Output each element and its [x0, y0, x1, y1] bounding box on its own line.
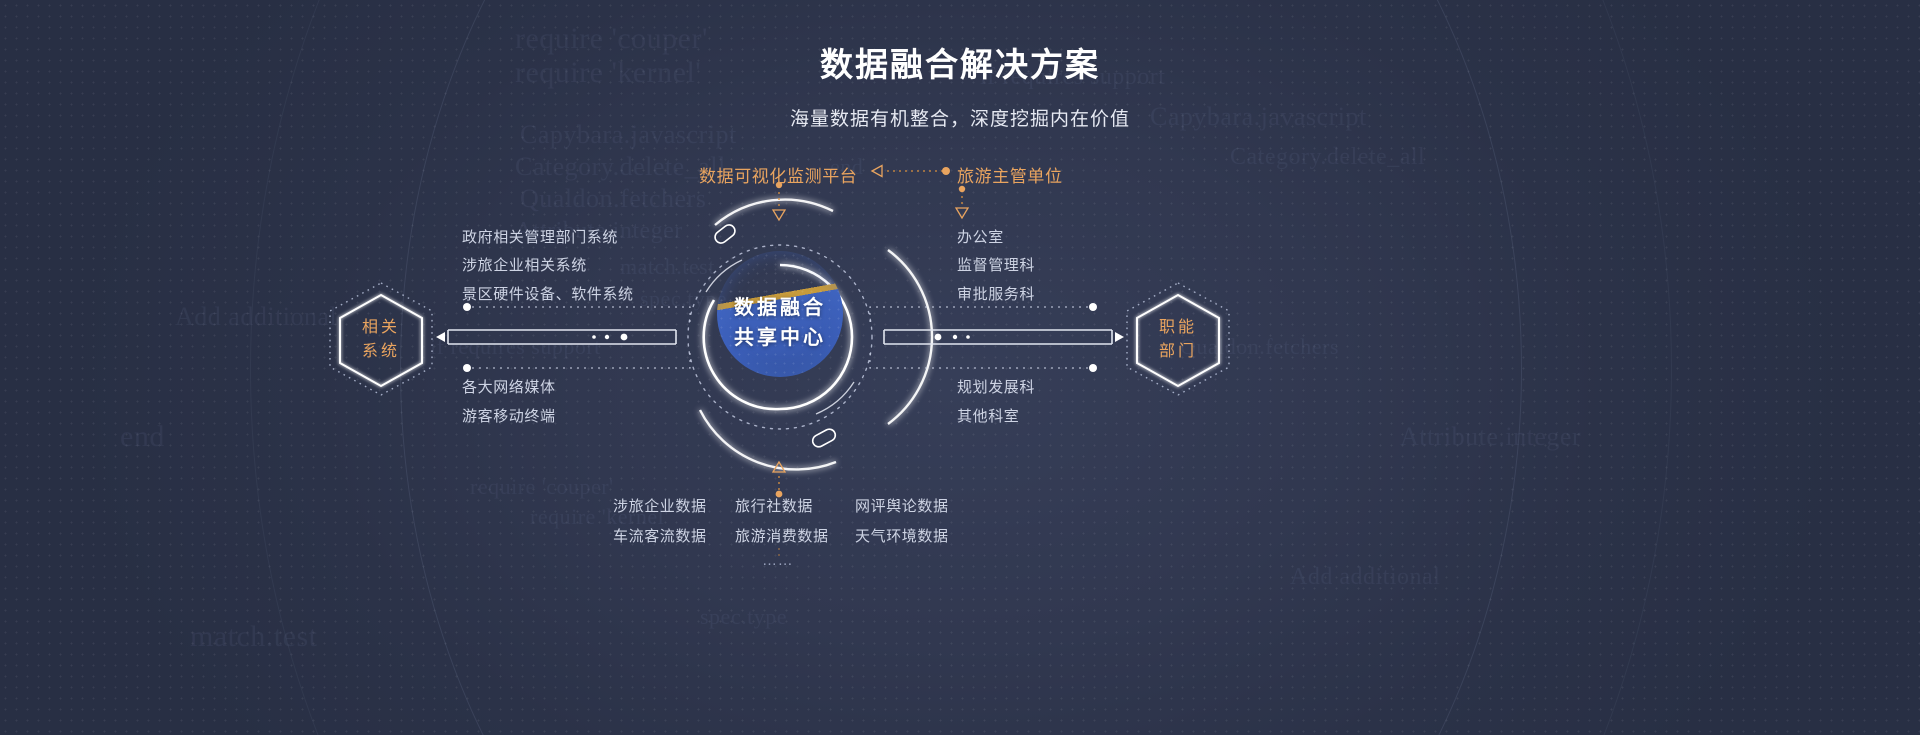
header: 数据融合解决方案 海量数据有机整合，深度挖掘内在价值	[0, 0, 1920, 131]
right-label-4[interactable]: 其他科室	[957, 405, 1019, 426]
page-subtitle: 海量数据有机整合，深度挖掘内在价值	[0, 104, 1920, 131]
hex-left-line2: 系统	[362, 340, 400, 364]
bottom-label-r1c0[interactable]: 涉旅企业数据	[613, 495, 707, 516]
hex-left-label: 相关 系统	[326, 278, 436, 402]
hex-right-label: 职能 部门	[1123, 278, 1233, 402]
left-label-0[interactable]: 政府相关管理部门系统	[462, 226, 618, 247]
left-label-2[interactable]: 景区硬件设备、软件系统	[462, 283, 634, 304]
right-label-2[interactable]: 审批服务科	[957, 283, 1035, 304]
left-label-3[interactable]: 各大网络媒体	[462, 376, 556, 397]
bottom-label-r2c1[interactable]: 旅游消费数据	[735, 525, 829, 546]
core-node: 数据融合 共享中心	[669, 193, 891, 483]
hex-right-line2: 部门	[1159, 340, 1197, 364]
page-title: 数据融合解决方案	[0, 38, 1920, 86]
bottom-label-r1c1[interactable]: 旅行社数据	[735, 495, 813, 516]
core-label-line1: 数据融合	[669, 293, 891, 323]
left-label-4[interactable]: 游客移动终端	[462, 405, 556, 426]
hex-right-line1: 职能	[1159, 316, 1197, 340]
left-label-1[interactable]: 涉旅企业相关系统	[462, 254, 587, 275]
bottom-label-r2c0[interactable]: 车流客流数据	[613, 525, 707, 546]
label-tourism-authority[interactable]: 旅游主管单位	[957, 162, 1063, 187]
hex-left-related-systems[interactable]: 相关 系统	[326, 278, 436, 402]
right-label-1[interactable]: 监督管理科	[957, 254, 1035, 275]
bottom-label-r2c2[interactable]: 天气环境数据	[855, 525, 949, 546]
hex-left-line1: 相关	[362, 316, 400, 340]
infographic-canvas: require 'couper'require 'kernel'Capybara…	[0, 0, 1920, 735]
bottom-label-r1c2[interactable]: 网评舆论数据	[855, 495, 949, 516]
label-visualization-platform[interactable]: 数据可视化监测平台	[699, 162, 857, 187]
bottom-label-ellipsis: ……	[762, 552, 793, 569]
core-label-line2: 共享中心	[669, 323, 891, 353]
core-label: 数据融合 共享中心	[669, 293, 891, 353]
hex-right-functional-depts[interactable]: 职能 部门	[1123, 278, 1233, 402]
right-label-0[interactable]: 办公室	[957, 226, 1004, 247]
right-label-3[interactable]: 规划发展科	[957, 376, 1035, 397]
